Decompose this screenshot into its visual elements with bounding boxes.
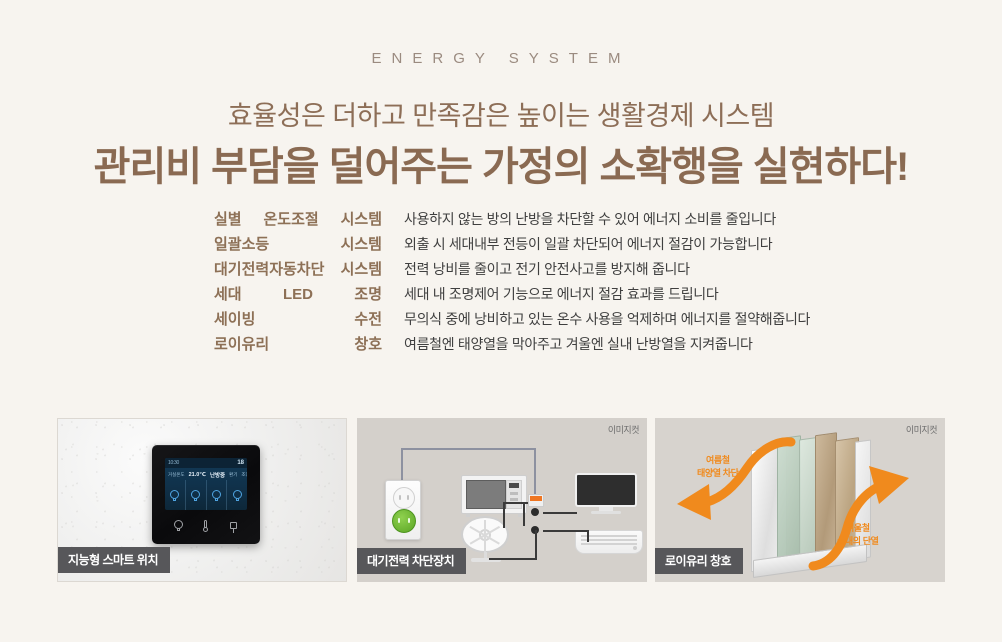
display-light-label: 조명 xyxy=(241,472,247,478)
thermometer-icon[interactable] xyxy=(200,520,211,533)
display-temp-badge: 18 xyxy=(237,460,244,466)
display-status-bar: 10:30 18 xyxy=(165,458,247,468)
bulb-icon xyxy=(212,490,221,501)
switch-display: 10:30 18 거실온도 21.0℃ 난방중 환기 조명 xyxy=(165,458,247,510)
smart-outlet xyxy=(385,480,421,540)
fan-appliance xyxy=(461,516,513,562)
feature-label: 세이빙 수전 xyxy=(214,308,382,329)
winter-annotation: 겨울철 실내의 단열 xyxy=(837,522,879,548)
feature-row: 세이빙 수전 무의식 중에 낭비하고 있는 온수 사용을 억제하며 에너지를 절… xyxy=(0,308,1002,333)
panel-caption: 지능형 스마트 위치 xyxy=(58,547,170,573)
feature-description: 외출 시 세대내부 전등이 일괄 차단되어 에너지 절감이 가능합니다 xyxy=(404,234,772,254)
air-conditioner-appliance xyxy=(575,530,643,554)
feature-label: 일괄소등 시스템 xyxy=(214,233,382,254)
wire-segment xyxy=(503,502,505,528)
monitor-screen xyxy=(575,473,637,507)
wire-segment xyxy=(505,502,525,504)
plug-icon[interactable] xyxy=(228,520,239,533)
wire-segment xyxy=(543,512,577,514)
watermark-label: 이미지컷 xyxy=(608,423,639,436)
fan-head xyxy=(461,516,509,553)
lightbulb-icon[interactable] xyxy=(173,520,184,533)
feature-label: 대기전력자동차단 시스템 xyxy=(214,258,382,279)
wire-segment xyxy=(543,530,589,532)
winter-annotation-line1: 겨울철 xyxy=(837,522,879,535)
outlet-socket-top xyxy=(393,487,415,509)
panel-standby-power: 이미지컷 xyxy=(357,418,647,582)
monitor-appliance xyxy=(575,473,637,515)
bulb-icon xyxy=(233,490,242,501)
wire-segment xyxy=(523,504,525,526)
display-clock: 10:30 xyxy=(168,460,179,466)
feature-row: 로이유리 창호 여름철엔 태양열을 막아주고 겨울엔 실내 난방열을 지켜줍니다 xyxy=(0,333,1002,358)
wire-segment xyxy=(534,448,536,495)
feature-label: 실별 온도조절 시스템 xyxy=(214,208,382,229)
feature-list: 실별 온도조절 시스템 사용하지 않는 방의 난방을 차단할 수 있어 에너지 … xyxy=(0,208,1002,358)
feature-row: 일괄소등 시스템 외출 시 세대내부 전등이 일괄 차단되어 에너지 절감이 가… xyxy=(0,233,1002,258)
feature-description: 무의식 중에 낭비하고 있는 온수 사용을 억제하며 에너지를 절약해줍니다 xyxy=(404,309,810,329)
bulb-icon xyxy=(170,490,179,501)
feature-label: 로이유리 창호 xyxy=(214,333,382,354)
feature-description: 사용하지 않는 방의 난방을 차단할 수 있어 에너지 소비를 줄입니다 xyxy=(404,209,776,229)
feature-description: 전력 낭비를 줄이고 전기 안전사고를 방지해 줍니다 xyxy=(404,259,690,279)
eyebrow-text: ENERGY SYSTEM xyxy=(0,50,1002,67)
summer-annotation-line1: 여름철 xyxy=(697,454,739,467)
monitor-base xyxy=(591,511,621,514)
display-info-row: 거실온도 21.0℃ 난방중 환기 조명 xyxy=(165,469,247,480)
bulb-icon xyxy=(191,490,200,501)
energy-system-page: ENERGY SYSTEM 효율성은 더하고 만족감은 높이는 생활경제 시스템… xyxy=(0,0,1002,642)
watermark-label: 이미지컷 xyxy=(906,423,937,436)
microwave-control-panel xyxy=(506,480,522,509)
display-bulb-row xyxy=(165,480,247,510)
feature-row: 실별 온도조절 시스템 사용하지 않는 방의 난방을 차단할 수 있어 에너지 … xyxy=(0,208,1002,233)
wire-segment xyxy=(587,530,589,542)
switch-button-row xyxy=(165,516,247,536)
image-panel-group: 10:30 18 거실온도 21.0℃ 난방중 환기 조명 xyxy=(57,418,947,584)
display-room-label: 거실온도 xyxy=(168,472,185,478)
feature-description: 세대 내 조명제어 기능으로 에너지 절감 효과를 드립니다 xyxy=(404,284,718,304)
display-bulb-1[interactable] xyxy=(165,480,186,510)
display-vent-label: 환기 xyxy=(229,472,237,478)
display-bulb-4[interactable] xyxy=(227,480,247,510)
display-temp-value: 21.0℃ xyxy=(189,472,206,478)
wire-segment xyxy=(401,448,536,450)
winter-annotation-line2: 실내의 단열 xyxy=(837,535,879,548)
subtitle-text: 효율성은 더하고 만족감은 높이는 생활경제 시스템 xyxy=(0,94,1002,133)
summer-annotation-line2: 태양열 차단 xyxy=(697,467,739,480)
panel-caption: 대기전력 차단장치 xyxy=(357,548,466,574)
wire-segment xyxy=(401,448,403,482)
standby-breaker[interactable] xyxy=(528,494,544,507)
feature-row: 세대 LED 조명 세대 내 조명제어 기능으로 에너지 절감 효과를 드립니다 xyxy=(0,283,1002,308)
smart-switch-device: 10:30 18 거실온도 21.0℃ 난방중 환기 조명 xyxy=(152,445,260,544)
feature-description: 여름철엔 태양열을 막아주고 겨울엔 실내 난방열을 지켜줍니다 xyxy=(404,334,753,354)
feature-row: 대기전력자동차단 시스템 전력 낭비를 줄이고 전기 안전사고를 방지해 줍니다 xyxy=(0,258,1002,283)
display-bulb-2[interactable] xyxy=(186,480,207,510)
panel-caption: 로이유리 창호 xyxy=(655,548,743,574)
summer-annotation: 여름철 태양열 차단 xyxy=(697,454,739,480)
microwave-door xyxy=(466,480,506,509)
display-mode: 난방중 xyxy=(210,471,225,479)
winter-insulation-arrow xyxy=(783,464,923,572)
wire-segment xyxy=(535,530,537,560)
feature-label: 세대 LED 조명 xyxy=(214,283,382,304)
display-bulb-3[interactable] xyxy=(207,480,228,510)
microwave-appliance xyxy=(461,475,527,514)
outlet-socket-bottom xyxy=(392,509,416,533)
panel-smart-switch: 10:30 18 거실온도 21.0℃ 난방중 환기 조명 xyxy=(57,418,347,582)
wire-segment xyxy=(489,558,537,560)
switch-node[interactable] xyxy=(531,508,539,516)
panel-lowe-window: 이미지컷 xyxy=(655,418,945,582)
headline-text: 관리비 부담을 덜어주는 가정의 소확행을 실현하다! xyxy=(0,134,1002,192)
